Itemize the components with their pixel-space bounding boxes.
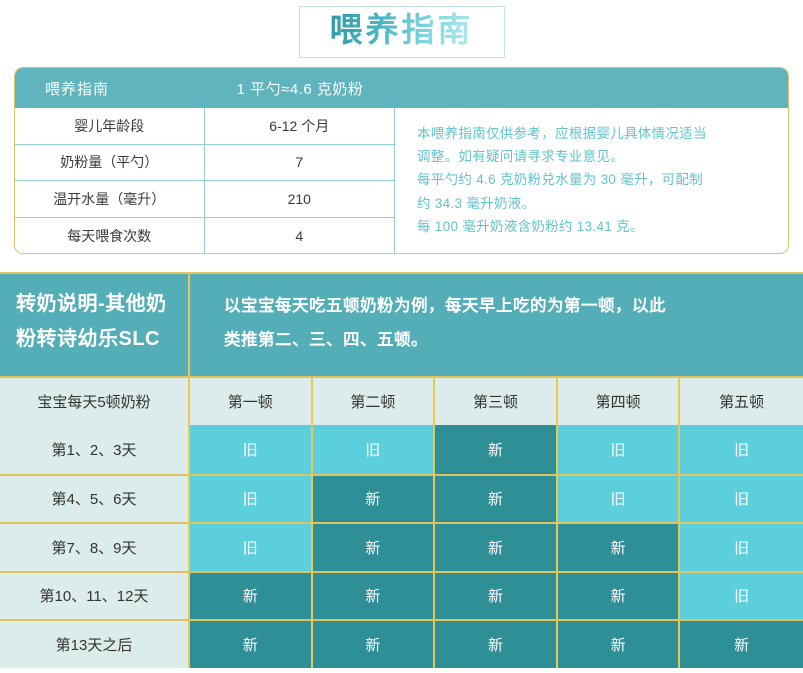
schedule-cell: 新: [435, 621, 558, 668]
schedule-cell: 旧: [680, 425, 803, 474]
spec-key: 奶粉量（平勺）: [15, 145, 205, 181]
schedule-cell: 旧: [680, 476, 803, 523]
column-header-meal-5: 第五顿: [680, 378, 803, 425]
table-row: 温开水量（毫升） 210: [15, 181, 394, 218]
table-row: 婴儿年龄段 6-12 个月: [15, 108, 394, 145]
table-row: 每天喂食次数 4: [15, 218, 394, 255]
spec-value: 6-12 个月: [205, 116, 395, 136]
table-row: 奶粉量（平勺） 7: [15, 145, 394, 182]
schedule-cell: 新: [558, 621, 681, 668]
feeding-guide-page: 喂养指南 喂养指南 1 平勺≈4.6 克奶粉 婴儿年龄段 6-12 个月 奶粉量…: [0, 0, 803, 673]
card-header-left-label: 喂养指南: [15, 78, 205, 99]
schedule-cell: 新: [558, 524, 681, 571]
description-line: 类推第二、三、四、五顿。: [224, 324, 779, 358]
schedule-cell: 旧: [558, 425, 681, 474]
schedule-cell: 旧: [190, 425, 313, 474]
feeding-guide-card-body: 婴儿年龄段 6-12 个月 奶粉量（平勺） 7 温开水量（毫升） 210 每天喂…: [15, 108, 788, 254]
schedule-cell: 新: [190, 573, 313, 620]
card-header-right-label: 1 平勺≈4.6 克奶粉: [205, 78, 395, 99]
table-row: 第13天之后 新 新 新 新 新: [0, 619, 803, 668]
feeding-guide-note: 本喂养指南仅供参考，应根据婴儿具体情况适当 调整。如有疑问请寻求专业意见。 每平…: [395, 108, 788, 254]
table-row: 第4、5、6天 旧 新 新 旧 旧: [0, 474, 803, 523]
note-line: 调整。如有疑问请寻求专业意见。: [417, 145, 770, 168]
schedule-cell: 旧: [680, 524, 803, 571]
schedule-cell: 新: [558, 573, 681, 620]
table-row: 第7、8、9天 旧 新 新 新 旧: [0, 522, 803, 571]
schedule-cell: 新: [435, 425, 558, 474]
schedule-cell: 新: [680, 621, 803, 668]
schedule-cell: 旧: [190, 524, 313, 571]
column-header-meal-3: 第三顿: [435, 378, 558, 425]
table-row: 第1、2、3天 旧 旧 新 旧 旧: [0, 425, 803, 474]
transition-schedule-table: 转奶说明-其他奶 粉转诗幼乐SLC 以宝宝每天吃五顿奶粉为例，每天早上吃的为第一…: [0, 272, 803, 668]
schedule-cell: 新: [313, 476, 436, 523]
row-label: 第1、2、3天: [0, 425, 190, 474]
feeding-guide-card-header: 喂养指南 1 平勺≈4.6 克奶粉: [15, 68, 788, 108]
page-title-wrapper: 喂养指南: [0, 6, 803, 58]
column-header-label: 宝宝每天5顿奶粉: [0, 378, 190, 425]
spec-key: 婴儿年龄段: [15, 108, 205, 144]
spec-key: 温开水量（毫升）: [15, 181, 205, 217]
schedule-cell: 新: [313, 573, 436, 620]
transition-table-column-headers: 宝宝每天5顿奶粉 第一顿 第二顿 第三顿 第四顿 第五顿: [0, 378, 803, 425]
feeding-spec-table: 婴儿年龄段 6-12 个月 奶粉量（平勺） 7 温开水量（毫升） 210 每天喂…: [15, 108, 395, 254]
schedule-cell: 新: [313, 524, 436, 571]
schedule-cell: 新: [435, 573, 558, 620]
transition-title-line: 粉转诗幼乐SLC: [16, 322, 188, 357]
column-header-meal-2: 第二顿: [313, 378, 436, 425]
row-label: 第13天之后: [0, 621, 190, 668]
note-line: 每平勺约 4.6 克奶粉兑水量为 30 毫升，可配制: [417, 168, 770, 191]
table-row: 第10、11、12天 新 新 新 新 旧: [0, 571, 803, 620]
transition-table-title: 转奶说明-其他奶 粉转诗幼乐SLC: [0, 274, 190, 376]
column-header-meal-1: 第一顿: [190, 378, 313, 425]
page-title-box: 喂养指南: [299, 6, 505, 58]
transition-table-header: 转奶说明-其他奶 粉转诗幼乐SLC 以宝宝每天吃五顿奶粉为例，每天早上吃的为第一…: [0, 272, 803, 378]
column-header-meal-4: 第四顿: [558, 378, 681, 425]
schedule-cell: 新: [190, 621, 313, 668]
row-label: 第4、5、6天: [0, 476, 190, 523]
spec-value: 4: [205, 228, 395, 244]
note-line: 本喂养指南仅供参考，应根据婴儿具体情况适当: [417, 122, 770, 145]
spec-value: 7: [205, 154, 395, 170]
schedule-cell: 旧: [313, 425, 436, 474]
row-label: 第7、8、9天: [0, 524, 190, 571]
note-line: 约 34.3 毫升奶液。: [417, 192, 770, 215]
schedule-cell: 新: [435, 524, 558, 571]
schedule-cell: 旧: [558, 476, 681, 523]
spec-key: 每天喂食次数: [15, 218, 205, 255]
schedule-cell: 旧: [680, 573, 803, 620]
note-line: 每 100 毫升奶液含奶粉约 13.41 克。: [417, 215, 770, 238]
schedule-cell: 旧: [190, 476, 313, 523]
transition-title-line: 转奶说明-其他奶: [16, 287, 188, 322]
schedule-cell: 新: [435, 476, 558, 523]
transition-table-description: 以宝宝每天吃五顿奶粉为例，每天早上吃的为第一顿，以此 类推第二、三、四、五顿。: [190, 274, 803, 376]
page-title: 喂养指南: [330, 11, 474, 49]
feeding-guide-card: 喂养指南 1 平勺≈4.6 克奶粉 婴儿年龄段 6-12 个月 奶粉量（平勺） …: [14, 67, 789, 254]
row-label: 第10、11、12天: [0, 573, 190, 620]
spec-value: 210: [205, 191, 395, 207]
schedule-cell: 新: [313, 621, 436, 668]
description-line: 以宝宝每天吃五顿奶粉为例，每天早上吃的为第一顿，以此: [224, 290, 779, 324]
